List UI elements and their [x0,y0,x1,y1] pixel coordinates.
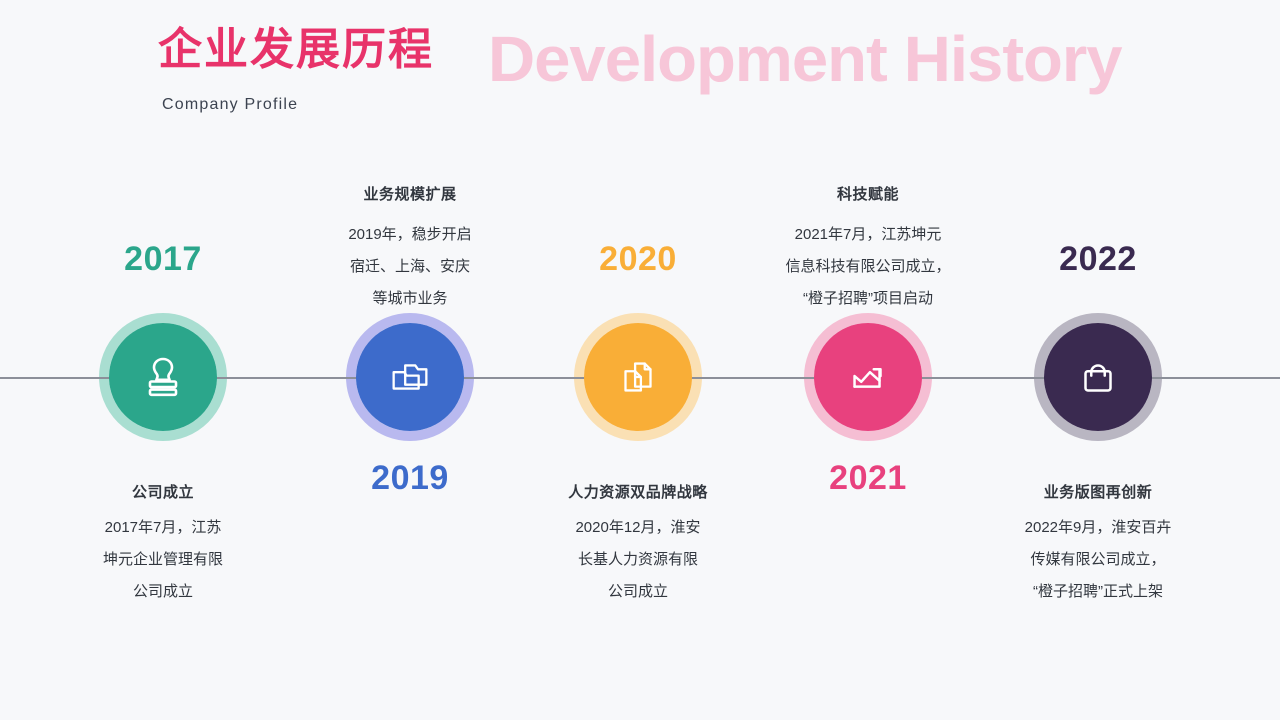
milestone-node[interactable] [1044,323,1152,431]
milestone-node[interactable] [584,323,692,431]
milestone-body: 2017年7月，江苏 坤元企业管理有限 公司成立 [33,512,293,608]
milestone-heading: 业务版图再创新 [958,481,1238,502]
milestone-body: 2022年9月，淮安百卉 传媒有限公司成立， “橙子招聘”正式上架 [958,512,1238,608]
milestone-year: 2022 [968,240,1228,279]
timeline-milestone[interactable]: 业务规模扩展 2019年，稳步开启 宿迁、上海、安庆 等城市业务 2019 [280,0,540,720]
milestone-body: 2021年7月，江苏坤元 信息科技有限公司成立， “橙子招聘”项目启动 [728,219,1008,315]
milestone-year: 2017 [33,240,293,279]
timeline-milestone[interactable]: 2017 公司成立 2017年7月，江苏 坤元企业管理有限 公司成立 [33,0,293,720]
timeline-milestone[interactable]: 科技赋能 2021年7月，江苏坤元 信息科技有限公司成立， “橙子招聘”项目启动… [738,0,998,720]
milestone-body: 2020年12月，淮安 长基人力资源有限 公司成立 [508,512,768,608]
milestone-year: 2019 [280,459,540,498]
stamp-icon [137,351,189,403]
documents-icon [613,352,663,402]
shopping-bag-icon [1073,352,1123,402]
milestone-heading: 科技赋能 [728,183,1008,204]
folder-icon [385,352,435,402]
milestone-heading: 公司成立 [33,481,293,502]
milestone-node[interactable] [814,323,922,431]
milestone-node[interactable] [356,323,464,431]
timeline-milestone[interactable]: 2022 业务版图再创新 2022年9月，淮安百卉 传媒有限公司成立， “橙子招… [968,0,1228,720]
milestone-body: 2019年，稳步开启 宿迁、上海、安庆 等城市业务 [280,219,540,315]
milestone-heading: 人力资源双品牌战略 [508,481,768,502]
milestone-heading: 业务规模扩展 [280,183,540,204]
timeline-milestone[interactable]: 2020 人力资源双品牌战略 2020年12月，淮安 长基人力资源有限 公司成立 [508,0,768,720]
milestone-node[interactable] [109,323,217,431]
growth-chart-icon [843,352,893,402]
